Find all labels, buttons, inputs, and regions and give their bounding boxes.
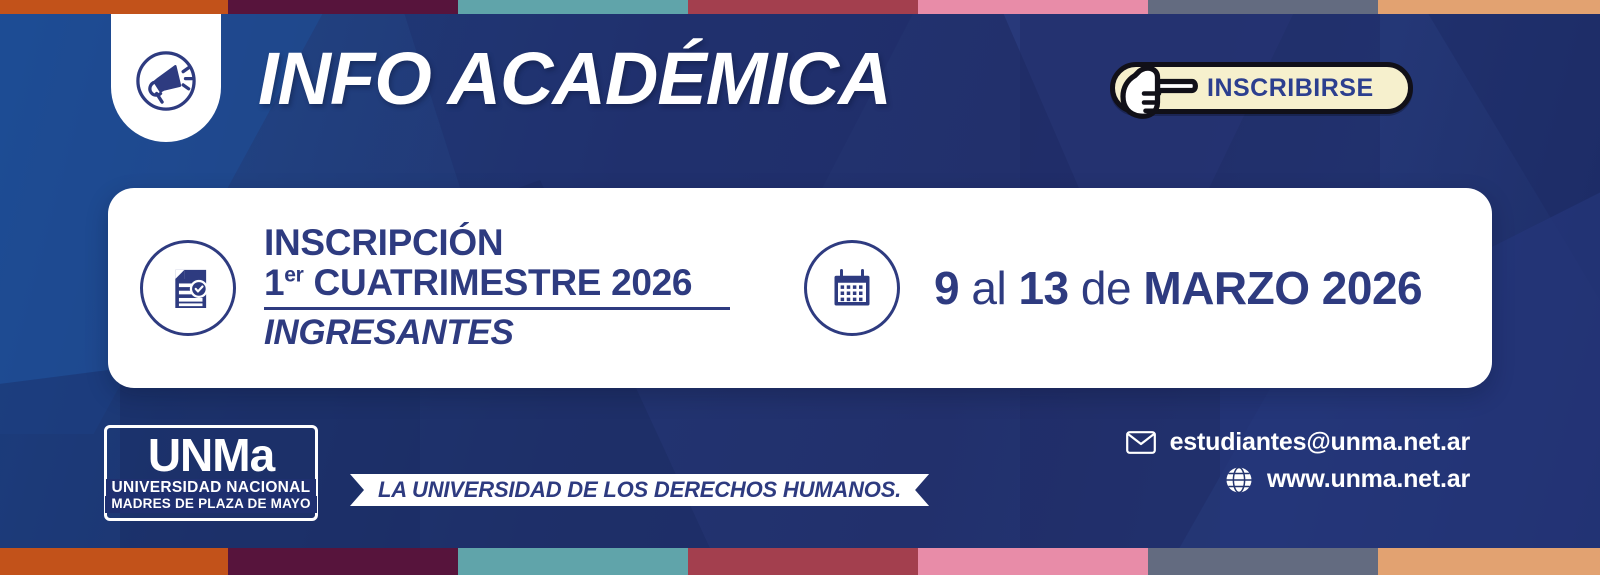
color-strip-segment-6: [1148, 0, 1378, 14]
inscription-section: INSCRIPCIÓN 1er CUATRIMESTRE 2026 INGRES…: [108, 223, 730, 353]
inscription-text-block: INSCRIPCIÓN 1er CUATRIMESTRE 2026 INGRES…: [264, 223, 730, 353]
color-strip-segment-3: [458, 0, 688, 14]
date-day-start: 9: [934, 262, 959, 314]
color-strip-segment-5: [918, 548, 1148, 575]
inscription-ordinal-number: 1: [264, 262, 284, 303]
color-strip-segment-2: [228, 548, 458, 575]
megaphone-badge: [111, 14, 221, 142]
banner-root: INFO ACADÉMICA INSCRIBIRSE: [0, 0, 1600, 575]
inscription-line-3: INGRESANTES: [264, 313, 730, 353]
color-strip-segment-3: [458, 548, 688, 575]
logo-line-2: MADRES DE PLAZA DE MAYO: [105, 496, 316, 512]
contact-email: estudiantes@unma.net.ar: [1170, 428, 1470, 457]
tagline-ribbon: LA UNIVERSIDAD DE LOS DERECHOS HUMANOS.: [350, 474, 929, 506]
info-card: INSCRIPCIÓN 1er CUATRIMESTRE 2026 INGRES…: [108, 188, 1492, 388]
bottom-color-strip: [0, 548, 1600, 575]
tagline-text: LA UNIVERSIDAD DE LOS DERECHOS HUMANOS.: [378, 477, 901, 503]
top-color-strip: [0, 0, 1600, 14]
logo-acronym: UNMa: [148, 432, 274, 478]
divider-rule: [264, 307, 730, 310]
color-strip-segment-7: [1378, 0, 1600, 14]
inscribirse-button[interactable]: INSCRIBIRSE: [1110, 62, 1413, 114]
inscription-line-1: INSCRIPCIÓN: [264, 223, 730, 263]
contact-website: www.unma.net.ar: [1267, 465, 1470, 494]
color-strip-segment-1: [0, 0, 228, 14]
contact-block: estudiantes@unma.net.ar www.unma.net.ar: [1126, 428, 1470, 494]
page-title: INFO ACADÉMICA: [258, 42, 891, 116]
logo-line-1: UNIVERSIDAD NACIONAL: [106, 479, 317, 497]
calendar-icon: [804, 240, 900, 336]
contact-website-row[interactable]: www.unma.net.ar: [1225, 465, 1470, 494]
contact-email-row[interactable]: estudiantes@unma.net.ar: [1126, 428, 1470, 457]
color-strip-segment-6: [1148, 548, 1378, 575]
color-strip-segment-2: [228, 0, 458, 14]
date-day-end: 13: [1018, 262, 1068, 314]
date-separator-al: al: [959, 262, 1018, 314]
date-separator-de: de: [1069, 262, 1144, 314]
inscribirse-label: INSCRIBIRSE: [1207, 74, 1374, 103]
envelope-icon: [1126, 431, 1156, 454]
color-strip-segment-5: [918, 0, 1148, 14]
megaphone-icon: [127, 42, 205, 120]
date-range: 9 al 13 de MARZO 2026: [934, 261, 1422, 315]
inscription-ordinal-suffix: er: [284, 264, 303, 287]
color-strip-segment-4: [688, 548, 918, 575]
color-strip-segment-7: [1378, 548, 1600, 575]
document-check-icon: [140, 240, 236, 336]
date-section: 9 al 13 de MARZO 2026: [804, 240, 1422, 336]
logo-content: UNMa UNIVERSIDAD NACIONAL MADRES DE PLAZ…: [104, 425, 318, 521]
globe-icon: [1225, 466, 1253, 494]
inscription-line-2: 1er CUATRIMESTRE 2026: [264, 263, 730, 303]
inscription-term: CUATRIMESTRE 2026: [304, 262, 693, 303]
color-strip-segment-4: [688, 0, 918, 14]
date-month-year: MARZO 2026: [1143, 262, 1422, 314]
unma-logo: UNMa UNIVERSIDAD NACIONAL MADRES DE PLAZ…: [104, 425, 318, 521]
color-strip-segment-1: [0, 548, 228, 575]
pointing-hand-icon: [1114, 56, 1204, 122]
